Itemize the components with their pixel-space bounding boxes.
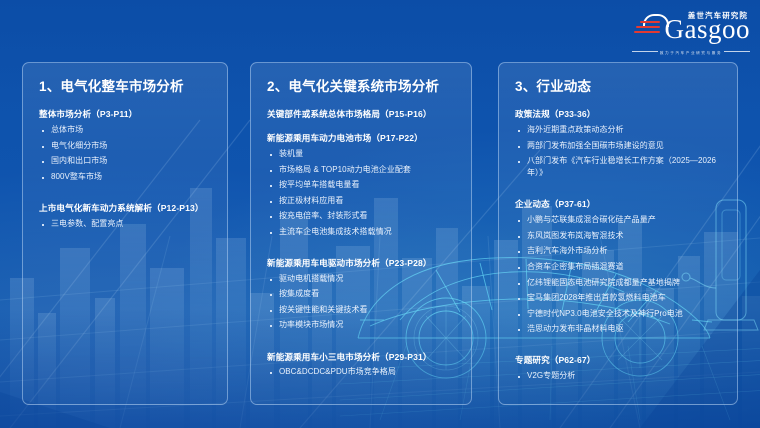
card-3-group-3: 专题研究（P62-67） V2G专题分析 xyxy=(515,354,723,382)
list-item: 浩思动力发布非晶材料电驱 xyxy=(515,323,723,335)
list-item: OBC&DCDC&PDU市场竞争格局 xyxy=(267,366,457,378)
list-item: 装机量 xyxy=(267,148,457,160)
card-3-title: 3、行业动态 xyxy=(515,79,723,95)
card-1-group-1: 整体市场分析（P3-P11） 总体市场 电气化细分市场 国内和出口市场 800V… xyxy=(39,108,213,183)
group-heading: 专题研究（P62-67） xyxy=(515,354,723,367)
list-item: 按充电倍率、封装形式看 xyxy=(267,210,457,222)
card-2-group-4-list: OBC&DCDC&PDU市场竞争格局 xyxy=(267,366,457,378)
card-3-group-1-list: 海外近期重点政策动态分析 两部门发布加强全国碳市场建设的意见 八部门发布《汽车行… xyxy=(515,124,723,179)
list-item: 按平均单车搭载电量看 xyxy=(267,179,457,191)
card-2-group-2: 新能源乘用车动力电池市场（P17-P22） 装机量 市场格局 & TOP10动力… xyxy=(267,132,457,238)
spacer xyxy=(39,194,213,202)
list-item: 功率模块市场情况 xyxy=(267,319,457,331)
spacer xyxy=(267,249,457,257)
list-item: 三电参数、配置亮点 xyxy=(39,218,213,230)
list-item: 按正极材料应用看 xyxy=(267,195,457,207)
card-2-group-4: 新能源乘用车小三电市场分析（P29-P31） OBC&DCDC&PDU市场竞争格… xyxy=(267,351,457,379)
spacer xyxy=(515,346,723,354)
list-item: 宝马集团2028年推出首款氢燃料电池车 xyxy=(515,292,723,304)
group-heading: 新能源乘用车电驱动市场分析（P23-P28） xyxy=(267,257,457,270)
group-heading: 新能源乘用车小三电市场分析（P29-P31） xyxy=(267,351,457,364)
spacer xyxy=(267,343,457,351)
card-3-group-1: 政策法规（P33-36） 海外近期重点政策动态分析 两部门发布加强全国碳市场建设… xyxy=(515,108,723,179)
list-item: 合资车企密集布局插混赛道 xyxy=(515,261,723,273)
group-heading: 关键部件或系统总体市场格局（P15-P16） xyxy=(267,108,457,121)
list-item: 800V整车市场 xyxy=(39,171,213,183)
list-item: 按关键性能和关键技术看 xyxy=(267,304,457,316)
list-item: 总体市场 xyxy=(39,124,213,136)
card-1-title: 1、电气化整车市场分析 xyxy=(39,79,213,95)
group-heading: 整体市场分析（P3-P11） xyxy=(39,108,213,121)
card-1-group-1-list: 总体市场 电气化细分市场 国内和出口市场 800V整车市场 xyxy=(39,124,213,183)
list-item: 亿纬锂能固态电池研究院成都量产基地揭牌 xyxy=(515,277,723,289)
list-item: 市场格局 & TOP10动力电池企业配套 xyxy=(267,164,457,176)
list-item: V2G专题分析 xyxy=(515,370,723,382)
list-item: 按集成度看 xyxy=(267,288,457,300)
card-2-group-3-list: 驱动电机搭载情况 按集成度看 按关键性能和关键技术看 功率模块市场情况 xyxy=(267,273,457,332)
card-3-group-3-list: V2G专题分析 xyxy=(515,370,723,382)
card-2-group-3: 新能源乘用车电驱动市场分析（P23-P28） 驱动电机搭载情况 按集成度看 按关… xyxy=(267,257,457,332)
list-item: 吉利汽车海外市场分析 xyxy=(515,245,723,257)
group-heading: 政策法规（P33-36） xyxy=(515,108,723,121)
list-item: 电气化细分市场 xyxy=(39,140,213,152)
card-1-group-2-list: 三电参数、配置亮点 xyxy=(39,218,213,230)
list-item: 宁德时代NP3.0电池安全技术及神行Pro电池 xyxy=(515,308,723,320)
list-item: 主流车企电池集成技术搭载情况 xyxy=(267,226,457,238)
card-2-title: 2、电气化关键系统市场分析 xyxy=(267,79,457,95)
list-item: 海外近期重点政策动态分析 xyxy=(515,124,723,136)
content-card-2[interactable]: 2、电气化关键系统市场分析 关键部件或系统总体市场格局（P15-P16） 新能源… xyxy=(250,62,472,405)
content-card-3[interactable]: 3、行业动态 政策法规（P33-36） 海外近期重点政策动态分析 两部门发布加强… xyxy=(498,62,738,405)
list-item: 东风岚图发布岚海智混技术 xyxy=(515,230,723,242)
card-3-group-2: 企业动态（P37-61） 小鹏与芯联集成混合碳化硅产品量产 东风岚图发布岚海智混… xyxy=(515,198,723,335)
group-heading: 新能源乘用车动力电池市场（P17-P22） xyxy=(267,132,457,145)
card-1-group-2: 上市电气化新车动力系统解析（P12-P13） 三电参数、配置亮点 xyxy=(39,202,213,230)
list-item: 驱动电机搭载情况 xyxy=(267,273,457,285)
list-item: 八部门发布《汽车行业稳增长工作方案（2025—2026年）》 xyxy=(515,155,723,179)
list-item: 国内和出口市场 xyxy=(39,155,213,167)
list-item: 小鹏与芯联集成混合碳化硅产品量产 xyxy=(515,214,723,226)
card-2-group-2-list: 装机量 市场格局 & TOP10动力电池企业配套 按平均单车搭载电量看 按正极材… xyxy=(267,148,457,238)
group-heading: 企业动态（P37-61） xyxy=(515,198,723,211)
card-2-group-1: 关键部件或系统总体市场格局（P15-P16） xyxy=(267,108,457,121)
list-item: 两部门发布加强全国碳市场建设的意见 xyxy=(515,140,723,152)
content-card-1[interactable]: 1、电气化整车市场分析 整体市场分析（P3-P11） 总体市场 电气化细分市场 … xyxy=(22,62,228,405)
group-heading: 上市电气化新车动力系统解析（P12-P13） xyxy=(39,202,213,215)
card-3-group-2-list: 小鹏与芯联集成混合碳化硅产品量产 东风岚图发布岚海智混技术 吉利汽车海外市场分析… xyxy=(515,214,723,335)
spacer xyxy=(515,190,723,198)
